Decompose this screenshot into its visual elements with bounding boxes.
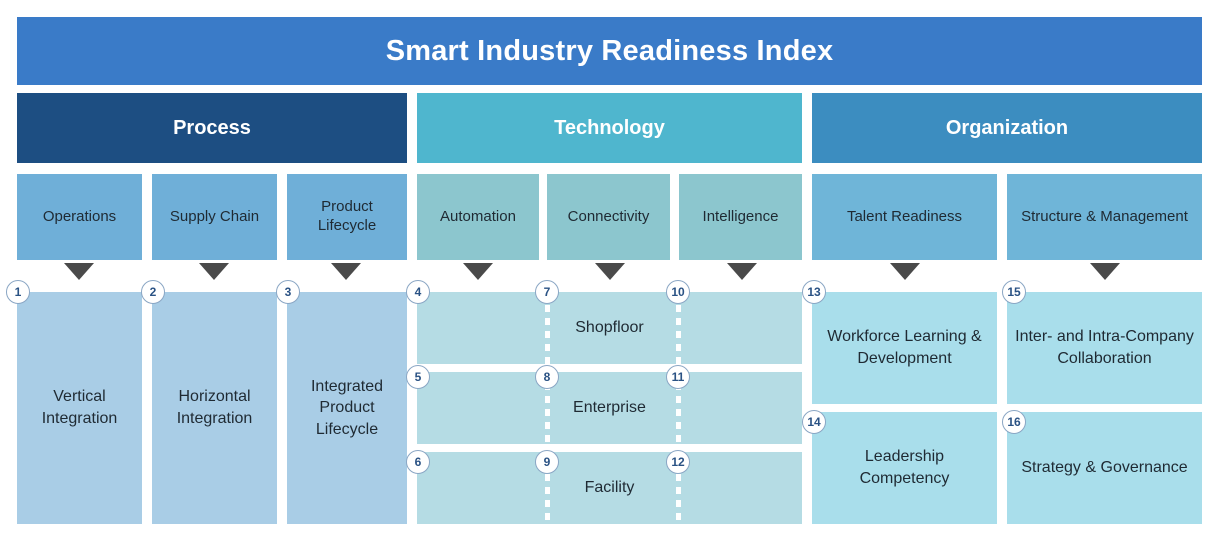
sub-pillar-automation-label: Automation (440, 208, 516, 227)
sub-pillar-operations[interactable]: Operations (17, 174, 142, 260)
dimension-tile-3-label: Integrated Product Lifecycle (295, 376, 399, 441)
dimension-tile-14[interactable]: Leadership Competency (812, 412, 997, 524)
dimension-tile-15[interactable]: Inter- and Intra-Company Collaboration (1007, 292, 1202, 404)
sub-pillar-supply-chain-label: Supply Chain (170, 208, 259, 227)
technology-layer-enterprise-label: Enterprise (573, 397, 646, 419)
pillar-header-process[interactable]: Process (17, 93, 407, 163)
sub-pillar-automation[interactable]: Automation (417, 174, 539, 260)
dimension-tile-16-label: Strategy & Governance (1021, 457, 1187, 479)
arrow-down-icon-talent-readiness (890, 263, 920, 280)
dimension-tile-13-label: Workforce Learning & Development (820, 326, 989, 369)
sub-pillar-structure-management-label: Structure & Management (1021, 208, 1188, 227)
arrow-down-icon-operations (64, 263, 94, 280)
sub-pillar-intelligence-label: Intelligence (703, 208, 779, 227)
pillar-header-technology[interactable]: Technology (417, 93, 802, 163)
readiness-index-diagram: Smart Industry Readiness Index Process T… (0, 0, 1219, 541)
sub-pillar-structure-management[interactable]: Structure & Management (1007, 174, 1202, 260)
sub-pillar-connectivity-label: Connectivity (568, 208, 650, 227)
dimension-tile-16[interactable]: Strategy & Governance (1007, 412, 1202, 524)
pillar-header-process-label: Process (173, 117, 251, 140)
pillar-header-row: Process Technology Organization (17, 93, 1202, 163)
arrow-down-icon-intelligence (727, 263, 757, 280)
sub-pillar-connectivity[interactable]: Connectivity (547, 174, 670, 260)
sub-pillar-talent-readiness[interactable]: Talent Readiness (812, 174, 997, 260)
sub-pillar-talent-readiness-label: Talent Readiness (847, 208, 962, 227)
dimension-tile-3[interactable]: Integrated Product Lifecycle (287, 292, 407, 524)
technology-layer-facility-label: Facility (585, 477, 635, 499)
dimension-tile-1-label: Vertical Integration (25, 386, 134, 429)
arrow-down-icon-supply-chain (199, 263, 229, 280)
sub-pillar-supply-chain[interactable]: Supply Chain (152, 174, 277, 260)
sub-pillar-operations-label: Operations (43, 208, 116, 227)
arrow-down-icon-connectivity (595, 263, 625, 280)
technology-layer-enterprise[interactable]: Enterprise (417, 372, 802, 444)
dimension-tile-13[interactable]: Workforce Learning & Development (812, 292, 997, 404)
technology-column-divider-right (676, 292, 681, 524)
dimension-tile-2[interactable]: Horizontal Integration (152, 292, 277, 524)
sub-pillar-product-lifecycle[interactable]: Product Lifecycle (287, 174, 407, 260)
arrow-down-icon-automation (463, 263, 493, 280)
technology-layer-shopfloor-label: Shopfloor (575, 317, 644, 339)
page-title: Smart Industry Readiness Index (386, 35, 834, 68)
dimension-tile-14-label: Leadership Competency (820, 446, 989, 489)
arrow-down-icon-product-lifecycle (331, 263, 361, 280)
dimension-tile-grid: Vertical Integration Horizontal Integrat… (17, 292, 1202, 524)
diagram-title-bar: Smart Industry Readiness Index (17, 17, 1202, 85)
technology-column-divider-left (545, 292, 550, 524)
sub-pillar-product-lifecycle-label: Product Lifecycle (293, 198, 401, 236)
sub-pillar-row: Operations Supply Chain Product Lifecycl… (17, 174, 1202, 260)
technology-layer-facility[interactable]: Facility (417, 452, 802, 524)
arrow-down-icon-structure-management (1090, 263, 1120, 280)
sub-pillar-intelligence[interactable]: Intelligence (679, 174, 802, 260)
dimension-tile-2-label: Horizontal Integration (160, 386, 269, 429)
pillar-header-organization[interactable]: Organization (812, 93, 1202, 163)
technology-layer-shopfloor[interactable]: Shopfloor (417, 292, 802, 364)
pillar-header-technology-label: Technology (554, 117, 665, 140)
pillar-header-organization-label: Organization (946, 117, 1068, 140)
dimension-tile-15-label: Inter- and Intra-Company Collaboration (1015, 326, 1194, 369)
dimension-tile-1[interactable]: Vertical Integration (17, 292, 142, 524)
